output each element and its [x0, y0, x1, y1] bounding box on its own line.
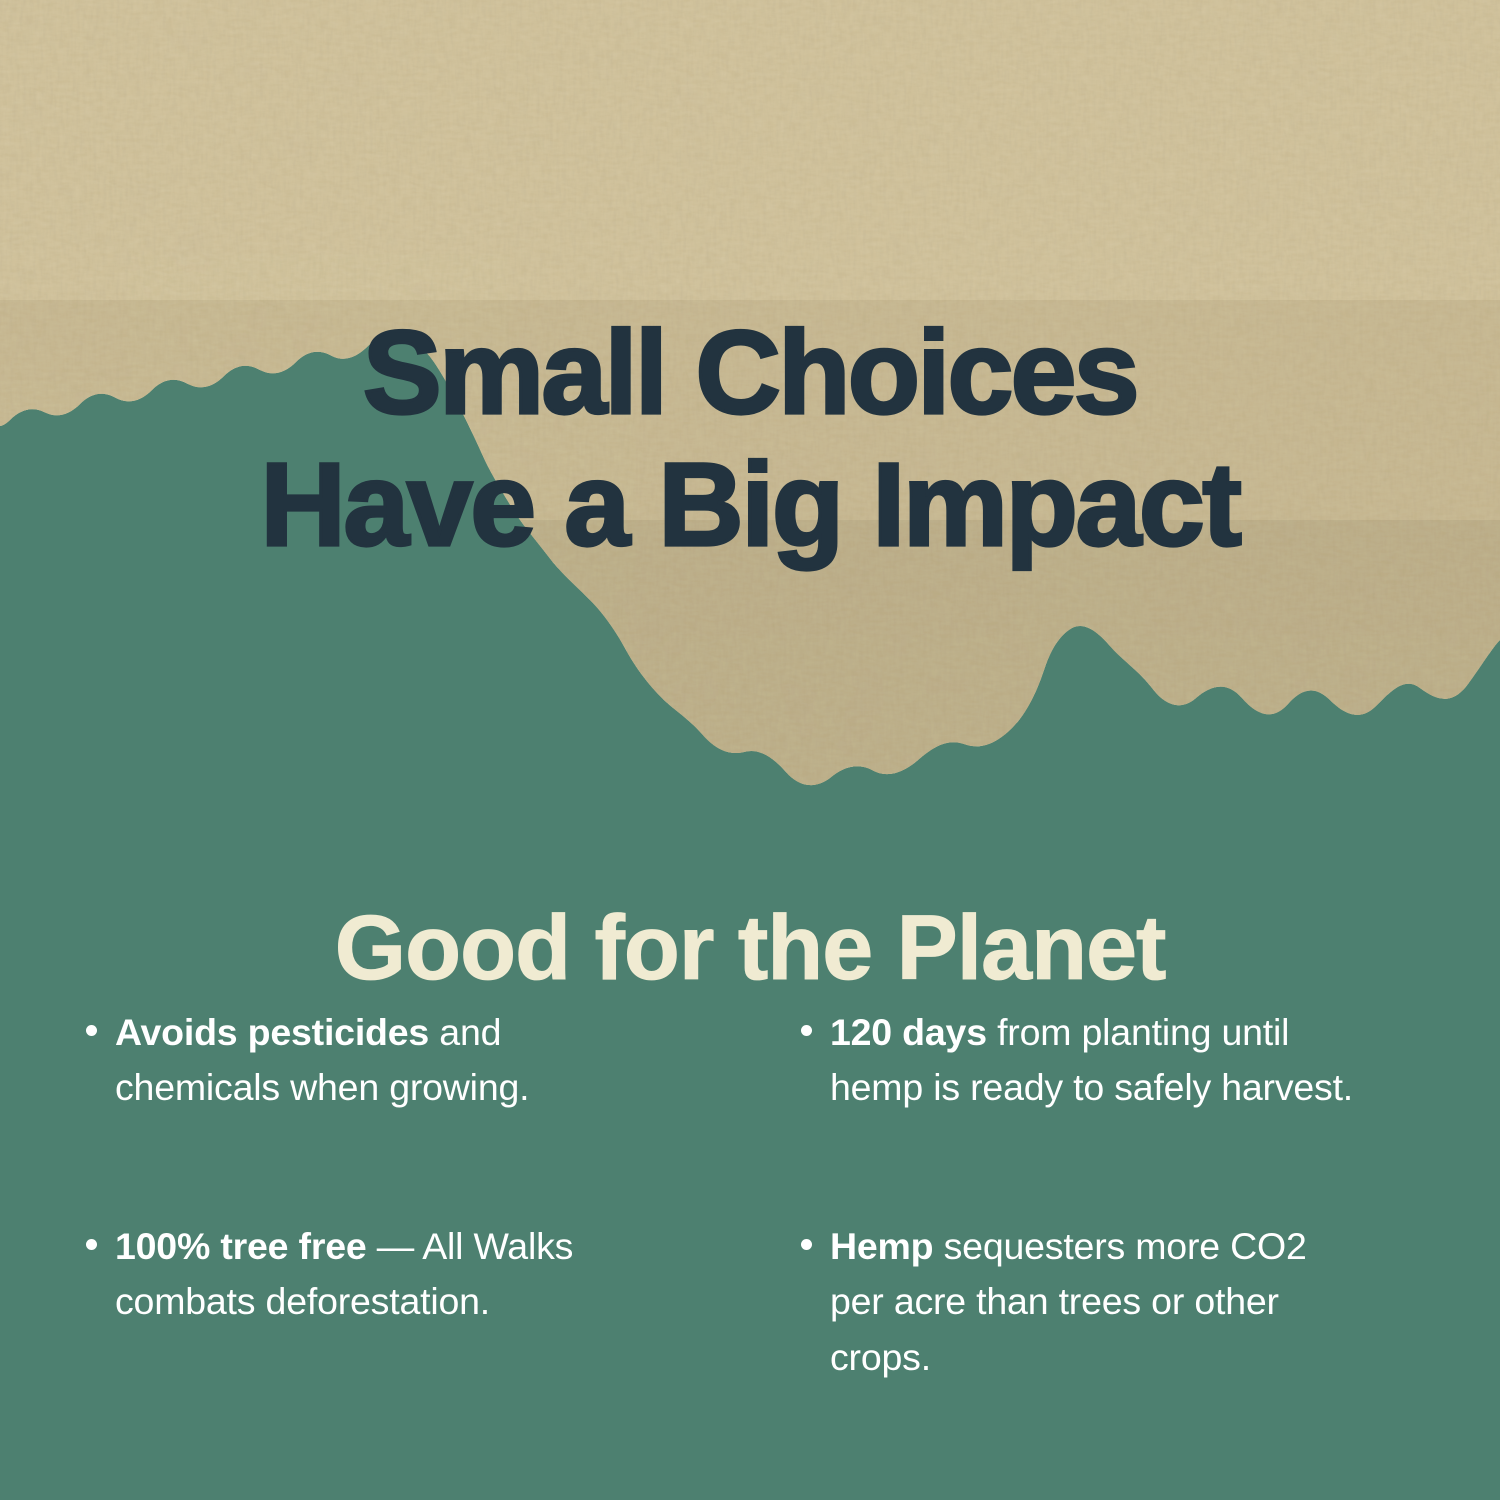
promo-poster: Small Choices Have a Big Impact Good for…: [0, 0, 1500, 1500]
bullet-dot-icon: [801, 1025, 812, 1036]
benefit-text: Hemp sequesters more CO2 per acre than t…: [830, 1219, 1370, 1384]
benefit-item-tree-free: 100% tree free — All Walks combats defor…: [86, 1219, 801, 1384]
bullet-dot-icon: [801, 1239, 812, 1250]
benefit-lead: Avoids pesticides: [115, 1011, 429, 1053]
headline-line-2: Have a Big Impact: [0, 439, 1500, 571]
page-title: Small Choices Have a Big Impact: [0, 307, 1500, 571]
benefit-lead: Hemp: [830, 1225, 933, 1267]
bullet-dot-icon: [86, 1025, 97, 1036]
benefit-item-harvest-days: 120 days from planting until hemp is rea…: [801, 1005, 1416, 1115]
benefit-lead: 100% tree free: [115, 1225, 367, 1267]
headline-line-1: Small Choices: [0, 307, 1500, 439]
bullet-dot-icon: [86, 1239, 97, 1250]
benefit-item-pesticides: Avoids pesticides and chemicals when gro…: [86, 1005, 801, 1115]
benefit-text: 100% tree free — All Walks combats defor…: [115, 1219, 655, 1329]
benefit-item-carbon-sequestration: Hemp sequesters more CO2 per acre than t…: [801, 1219, 1416, 1384]
benefit-text: 120 days from planting until hemp is rea…: [830, 1005, 1370, 1115]
benefits-list: Avoids pesticides and chemicals when gro…: [86, 1005, 1416, 1385]
section-heading: Good for the Planet: [0, 902, 1500, 994]
benefit-lead: 120 days: [830, 1011, 987, 1053]
benefit-text: Avoids pesticides and chemicals when gro…: [115, 1005, 655, 1115]
